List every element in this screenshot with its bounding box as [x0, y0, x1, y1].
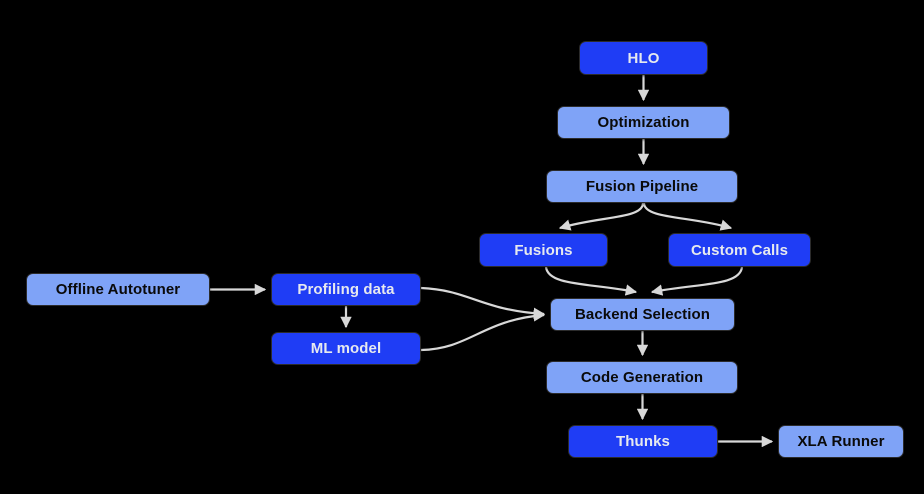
node-thunks[interactable]: Thunks: [568, 425, 718, 458]
edge-fusion-pipeline-to-custom-calls: [644, 203, 731, 228]
edge-fusions-to-backend-selection: [546, 267, 636, 292]
flowchart-canvas: HLO Optimization Fusion Pipeline Fusions…: [0, 0, 924, 494]
node-profiling-data-label: Profiling data: [297, 282, 394, 297]
edge-ml-model-to-backend-selection: [421, 315, 544, 350]
node-fusion-pipeline[interactable]: Fusion Pipeline: [546, 170, 738, 203]
node-hlo-label: HLO: [628, 51, 660, 66]
node-xla-runner[interactable]: XLA Runner: [778, 425, 904, 458]
node-code-generation[interactable]: Code Generation: [546, 361, 738, 394]
node-backend-selection-label: Backend Selection: [575, 307, 710, 322]
node-fusions[interactable]: Fusions: [479, 233, 608, 267]
node-profiling-data[interactable]: Profiling data: [271, 273, 421, 306]
node-ml-model[interactable]: ML model: [271, 332, 421, 365]
node-custom-calls-label: Custom Calls: [691, 243, 788, 258]
edge-custom-calls-to-backend-selection: [652, 267, 742, 292]
node-offline-autotuner-label: Offline Autotuner: [56, 282, 180, 297]
node-xla-runner-label: XLA Runner: [797, 434, 884, 449]
node-custom-calls[interactable]: Custom Calls: [668, 233, 811, 267]
node-backend-selection[interactable]: Backend Selection: [550, 298, 735, 331]
node-optimization-label: Optimization: [597, 115, 689, 130]
node-offline-autotuner[interactable]: Offline Autotuner: [26, 273, 210, 306]
node-hlo[interactable]: HLO: [579, 41, 708, 75]
node-optimization[interactable]: Optimization: [557, 106, 730, 139]
node-ml-model-label: ML model: [311, 341, 382, 356]
node-code-generation-label: Code Generation: [581, 370, 703, 385]
edge-profiling-data-to-backend-selection: [421, 288, 544, 314]
node-fusions-label: Fusions: [514, 243, 572, 258]
node-thunks-label: Thunks: [616, 434, 670, 449]
edge-fusion-pipeline-to-fusions: [560, 203, 643, 228]
node-fusion-pipeline-label: Fusion Pipeline: [586, 179, 698, 194]
